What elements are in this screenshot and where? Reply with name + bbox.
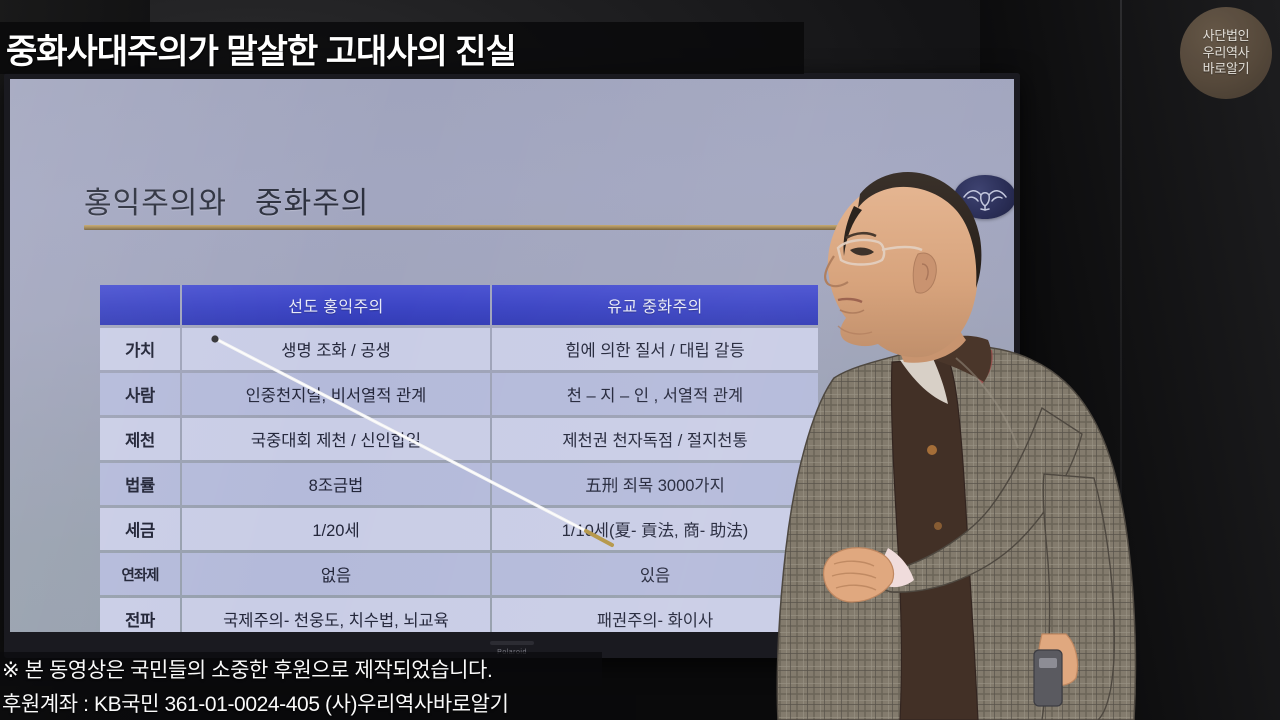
caption-line-2: 후원계좌 : KB국민 361-01-0024-405 (사)우리역사바로알기: [0, 686, 636, 720]
row-cell-junghwa: 있음: [492, 553, 818, 595]
row-cell-junghwa: 패권주의- 화이사: [492, 598, 818, 632]
row-cell-hongik: 없음: [182, 553, 490, 595]
row-cell-junghwa: 제천권 천자독점 / 절지천통: [492, 418, 818, 460]
table-row: 전파 국제주의- 천웅도, 치수법, 뇌교육 패권주의- 화이사: [100, 598, 818, 632]
brand-logo: 사단법인 우리역사 바로알기: [1180, 7, 1272, 99]
comparison-table: 선도 홍익주의 유교 중화주의 가치 생명 조화 / 공생 힘에 의한 질서 /…: [98, 282, 820, 632]
table-header-hongik: 선도 홍익주의: [182, 285, 490, 325]
slide-title: 홍익주의와 중화주의: [84, 178, 369, 222]
slide-title-underline: [84, 225, 946, 230]
ir-receiver: [490, 641, 534, 645]
backdrop-panel-right: [980, 0, 1280, 720]
video-frame: 홍익주의와 중화주의: [0, 0, 1280, 720]
row-label: 전파: [100, 598, 180, 632]
row-cell-junghwa: 1/10세(夏- 貢法, 商- 助法): [492, 508, 818, 550]
table-row: 연좌제 없음 있음: [100, 553, 818, 595]
caption-block: ※ 본 동영상은 국민들의 소중한 후원으로 제작되었습니다. 후원계좌 : K…: [0, 652, 1280, 720]
brand-logo-line2: 우리역사: [1203, 46, 1250, 61]
row-label: 연좌제: [100, 553, 180, 595]
row-cell-hongik: 국중대회 제천 / 신인합일: [182, 418, 490, 460]
bird-emblem-icon: [954, 175, 1014, 219]
brand-logo-line1: 사단법인: [1203, 29, 1250, 44]
row-cell-hongik: 1/20세: [182, 508, 490, 550]
presentation-display: 홍익주의와 중화주의: [4, 73, 1020, 658]
row-cell-junghwa: 五刑 죄목 3000가지: [492, 463, 818, 505]
row-cell-junghwa: 천 – 지 – 인 , 서열적 관계: [492, 373, 818, 415]
title-banner: 중화사대주의가 말살한 고대사의 진실: [0, 22, 804, 74]
row-label: 가치: [100, 328, 180, 370]
backdrop-seam: [1120, 0, 1122, 720]
row-label: 세금: [100, 508, 180, 550]
row-cell-hongik: 인중천지일, 비서열적 관계: [182, 373, 490, 415]
slide-canvas: 홍익주의와 중화주의: [10, 79, 1014, 632]
brand-logo-line3: 바로알기: [1203, 62, 1250, 77]
row-label: 법률: [100, 463, 180, 505]
row-cell-junghwa: 힘에 의한 질서 / 대립 갈등: [492, 328, 818, 370]
table-row: 사람 인중천지일, 비서열적 관계 천 – 지 – 인 , 서열적 관계: [100, 373, 818, 415]
row-cell-hongik: 생명 조화 / 공생: [182, 328, 490, 370]
table-row: 법률 8조금법 五刑 죄목 3000가지: [100, 463, 818, 505]
table-header-row: 선도 홍익주의 유교 중화주의: [100, 285, 818, 325]
title-banner-text: 중화사대주의가 말살한 고대사의 진실: [0, 24, 516, 73]
table-header-junghwa: 유교 중화주의: [492, 285, 818, 325]
table-corner-cell: [100, 285, 180, 325]
row-cell-hongik: 8조금법: [182, 463, 490, 505]
caption-line-1: ※ 본 동영상은 국민들의 소중한 후원으로 제작되었습니다.: [0, 652, 602, 686]
row-cell-hongik: 국제주의- 천웅도, 치수법, 뇌교육: [182, 598, 490, 632]
table-row: 제천 국중대회 제천 / 신인합일 제천권 천자독점 / 절지천통: [100, 418, 818, 460]
table-row: 세금 1/20세 1/10세(夏- 貢法, 商- 助法): [100, 508, 818, 550]
row-label: 제천: [100, 418, 180, 460]
row-label: 사람: [100, 373, 180, 415]
table-row: 가치 생명 조화 / 공생 힘에 의한 질서 / 대립 갈등: [100, 328, 818, 370]
